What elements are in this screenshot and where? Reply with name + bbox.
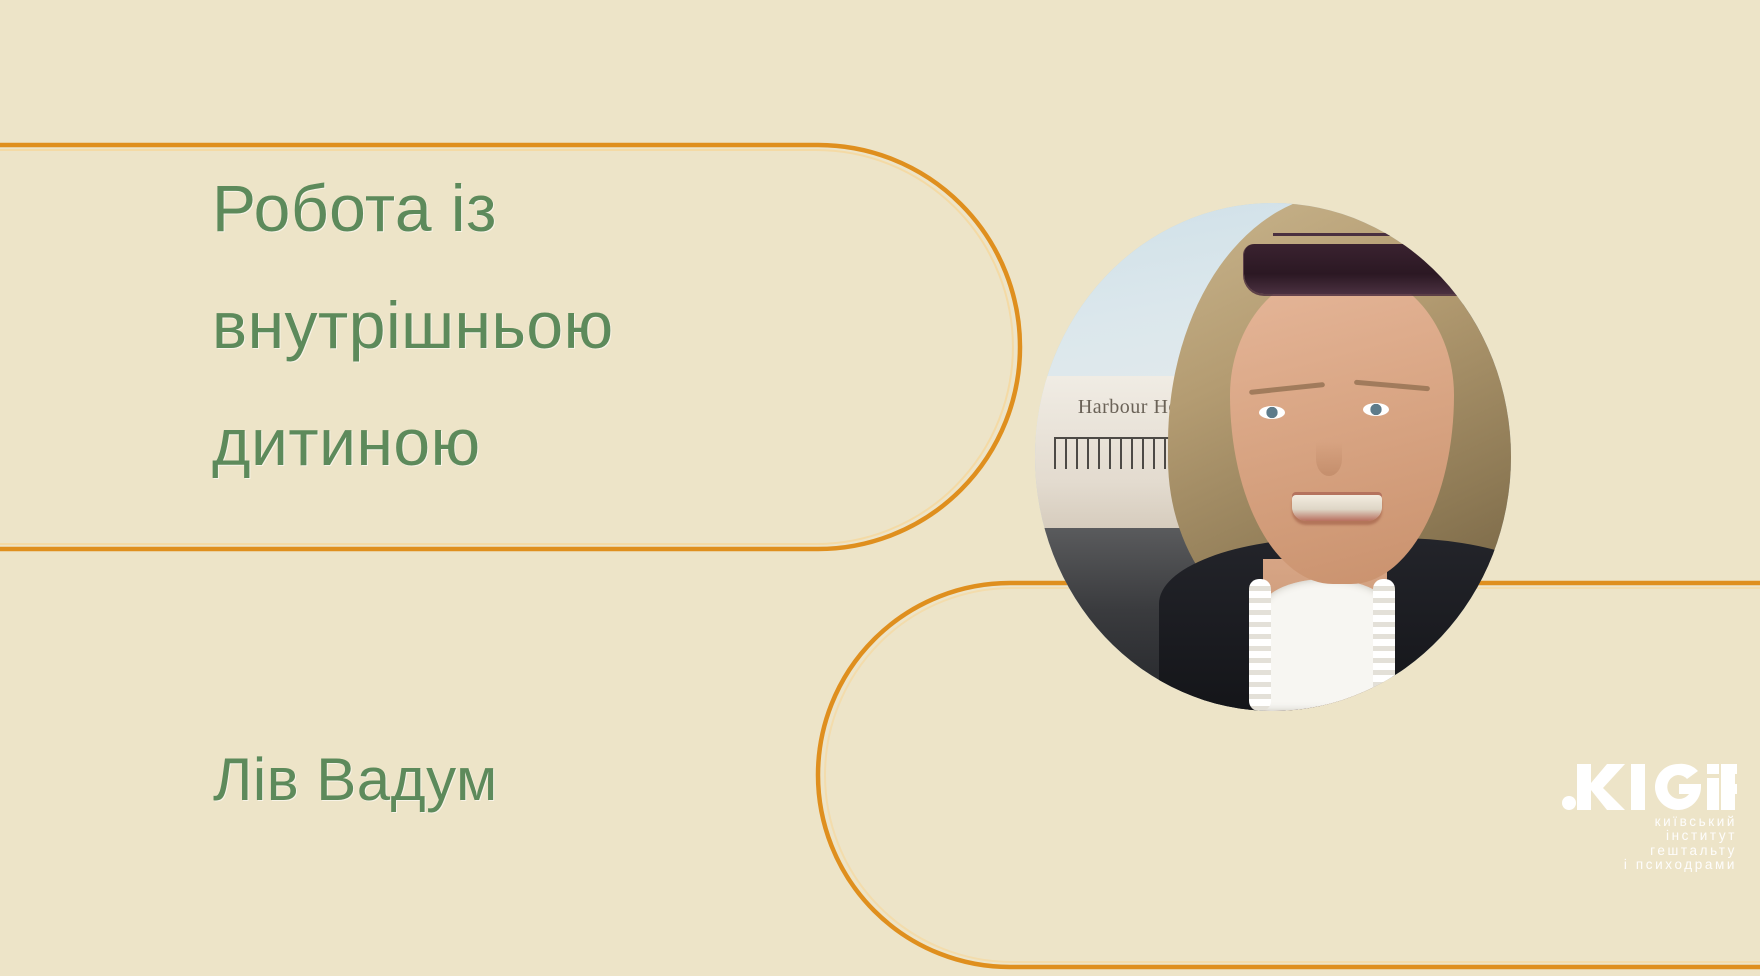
title-slide: Робота із внутрішньою дитиною Лів Вадум … bbox=[0, 0, 1760, 976]
logo-subtitle: київський інститут гештальту і психодрам… bbox=[1561, 815, 1737, 873]
logo-subtitle-line-3: гештальту bbox=[1561, 844, 1737, 858]
portrait-mouth bbox=[1292, 495, 1382, 521]
portrait-blouse bbox=[1259, 579, 1392, 711]
speaker-name: Лів Вадум bbox=[213, 744, 498, 816]
title-line-2: внутрішньою bbox=[212, 267, 772, 384]
speaker-portrait: Harbour House bbox=[1035, 203, 1511, 711]
title-line-3: дитиною bbox=[212, 384, 772, 501]
portrait-sunglasses bbox=[1244, 244, 1492, 295]
portrait-sunglasses-bridge bbox=[1273, 233, 1463, 236]
portrait-image: Harbour House bbox=[1035, 203, 1511, 711]
logo-subtitle-line-4: і психодрами bbox=[1561, 858, 1737, 872]
kigip-logo: київський інститут гештальту і психодрам… bbox=[1561, 758, 1737, 873]
page-title: Робота із внутрішньою дитиною bbox=[212, 150, 772, 501]
portrait-eye-left bbox=[1259, 406, 1285, 419]
logo-subtitle-line-2: інститут bbox=[1561, 829, 1737, 843]
portrait-blouse-ruffle-left bbox=[1249, 579, 1271, 711]
portrait-blouse-ruffle-right bbox=[1373, 579, 1395, 711]
kigip-wordmark-icon bbox=[1561, 758, 1737, 812]
portrait-nose bbox=[1316, 442, 1342, 476]
logo-subtitle-line-1: київський bbox=[1561, 815, 1737, 829]
title-line-1: Робота із bbox=[212, 150, 772, 267]
